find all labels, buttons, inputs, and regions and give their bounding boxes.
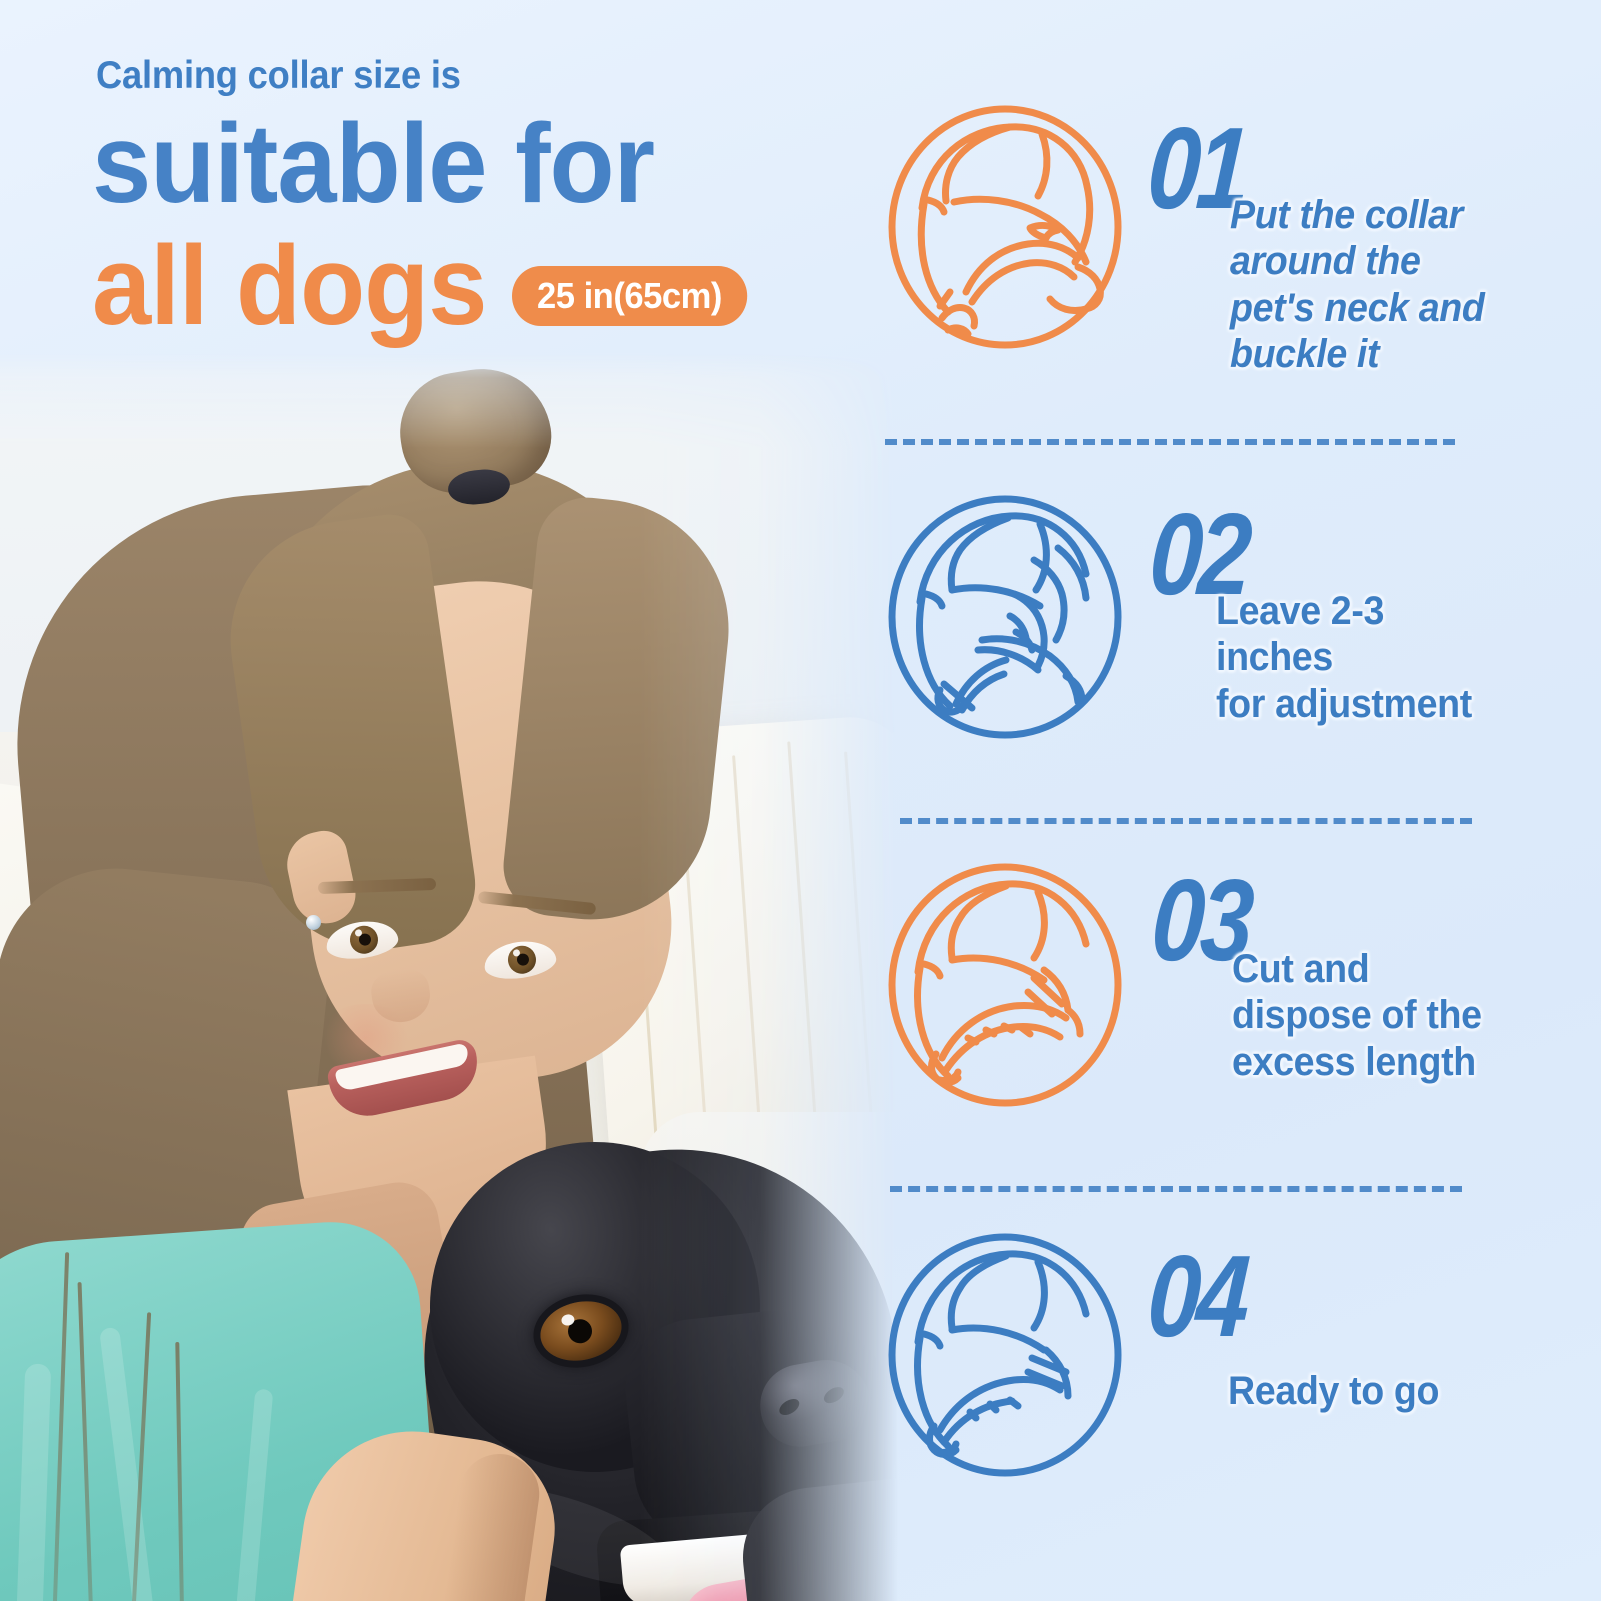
step-text-3: Cut anddispose of theexcess length — [1232, 946, 1542, 1085]
step-text-4: Ready to go — [1228, 1368, 1538, 1414]
hero-photo-illustration — [0, 352, 900, 1601]
step-divider-1 — [885, 439, 1455, 445]
hero-photo — [0, 352, 900, 1601]
step-divider-3 — [890, 1186, 1462, 1192]
size-badge: 25 in(65cm) — [512, 266, 747, 326]
step-text-1: Put the collararound thepet's neck andbu… — [1230, 192, 1512, 378]
step-divider-2 — [900, 818, 1472, 824]
headline-kicker: Calming collar size is — [96, 54, 461, 98]
dog-collar-fingers-gap-icon — [882, 494, 1128, 740]
headline-line-2: all dogs — [92, 230, 486, 342]
dog-collar-buckle-icon — [882, 104, 1128, 350]
dog-collar-cut-excess-icon — [882, 862, 1128, 1108]
steps-column: 01 Put the collararound thepet's neck an… — [860, 0, 1601, 1601]
dog-collar-fitted-icon — [882, 1232, 1128, 1478]
headline-line-1: suitable for — [92, 108, 654, 220]
infographic-canvas: Calming collar size is suitable for all … — [0, 0, 1601, 1601]
girl-earring — [306, 915, 321, 930]
step-number-4: 04 — [1145, 1238, 1249, 1354]
headline-block: Calming collar size is suitable for all … — [0, 0, 880, 350]
step-text-2: Leave 2-3inchesfor adjustment — [1216, 588, 1517, 727]
